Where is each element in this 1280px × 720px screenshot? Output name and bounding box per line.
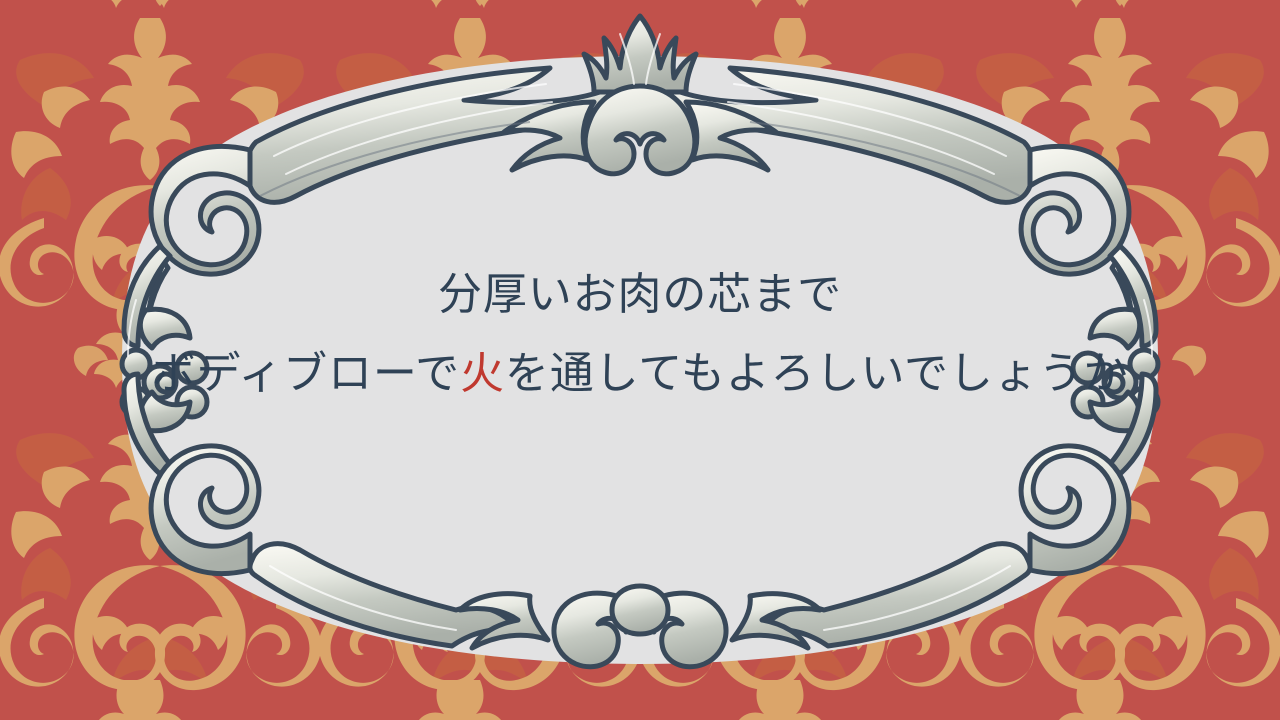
ornate-frame-card	[60, 10, 1220, 710]
frame-svg	[60, 10, 1220, 710]
scene-root: 分厚いお肉の芯まで ボディブローで火を通してもよろしいでしょうか	[0, 0, 1280, 720]
